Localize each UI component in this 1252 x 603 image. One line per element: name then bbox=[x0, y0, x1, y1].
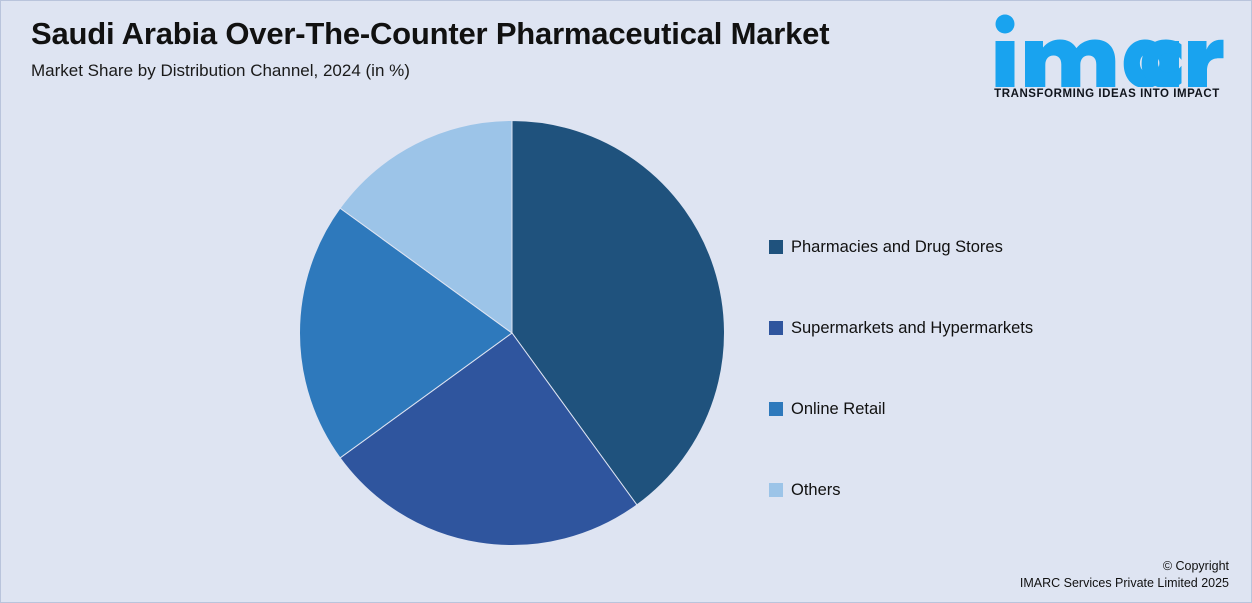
legend-label-pharmacies-and-drug-stores: Pharmacies and Drug Stores bbox=[791, 238, 1003, 256]
pie-chart-svg bbox=[299, 120, 725, 546]
legend-label-others: Others bbox=[791, 481, 841, 499]
legend-label-online-retail: Online Retail bbox=[791, 400, 885, 418]
chart-card: Saudi Arabia Over-The-Counter Pharmaceut… bbox=[0, 0, 1252, 603]
logo-tagline: TRANSFORMING IDEAS INTO IMPACT bbox=[981, 88, 1233, 100]
chart-subtitle: Market Share by Distribution Channel, 20… bbox=[31, 60, 981, 82]
pie-chart bbox=[299, 120, 725, 546]
legend-item-supermarkets-and-hypermarkets[interactable]: Supermarkets and Hypermarkets bbox=[769, 287, 1189, 368]
pie-slices-group bbox=[299, 121, 724, 546]
legend-swatch-pharmacies-and-drug-stores bbox=[769, 240, 783, 254]
copyright-block: © Copyright IMARC Services Private Limit… bbox=[1020, 558, 1229, 592]
imarc-wordmark-icon bbox=[984, 13, 1230, 87]
copyright-line-2: IMARC Services Private Limited 2025 bbox=[1020, 575, 1229, 592]
chart-header: Saudi Arabia Over-The-Counter Pharmaceut… bbox=[31, 15, 981, 82]
legend-swatch-supermarkets-and-hypermarkets bbox=[769, 321, 783, 335]
legend-item-others[interactable]: Others bbox=[769, 449, 1189, 530]
page-title: Saudi Arabia Over-The-Counter Pharmaceut… bbox=[31, 15, 981, 53]
legend-label-supermarkets-and-hypermarkets: Supermarkets and Hypermarkets bbox=[791, 319, 1033, 337]
legend-swatch-others bbox=[769, 483, 783, 497]
chart-legend: Pharmacies and Drug Stores Supermarkets … bbox=[769, 206, 1189, 530]
legend-swatch-online-retail bbox=[769, 402, 783, 416]
imarc-logo: TRANSFORMING IDEAS INTO IMPACT bbox=[981, 13, 1233, 100]
copyright-line-1: © Copyright bbox=[1020, 558, 1229, 575]
legend-item-pharmacies-and-drug-stores[interactable]: Pharmacies and Drug Stores bbox=[769, 206, 1189, 287]
legend-item-online-retail[interactable]: Online Retail bbox=[769, 368, 1189, 449]
